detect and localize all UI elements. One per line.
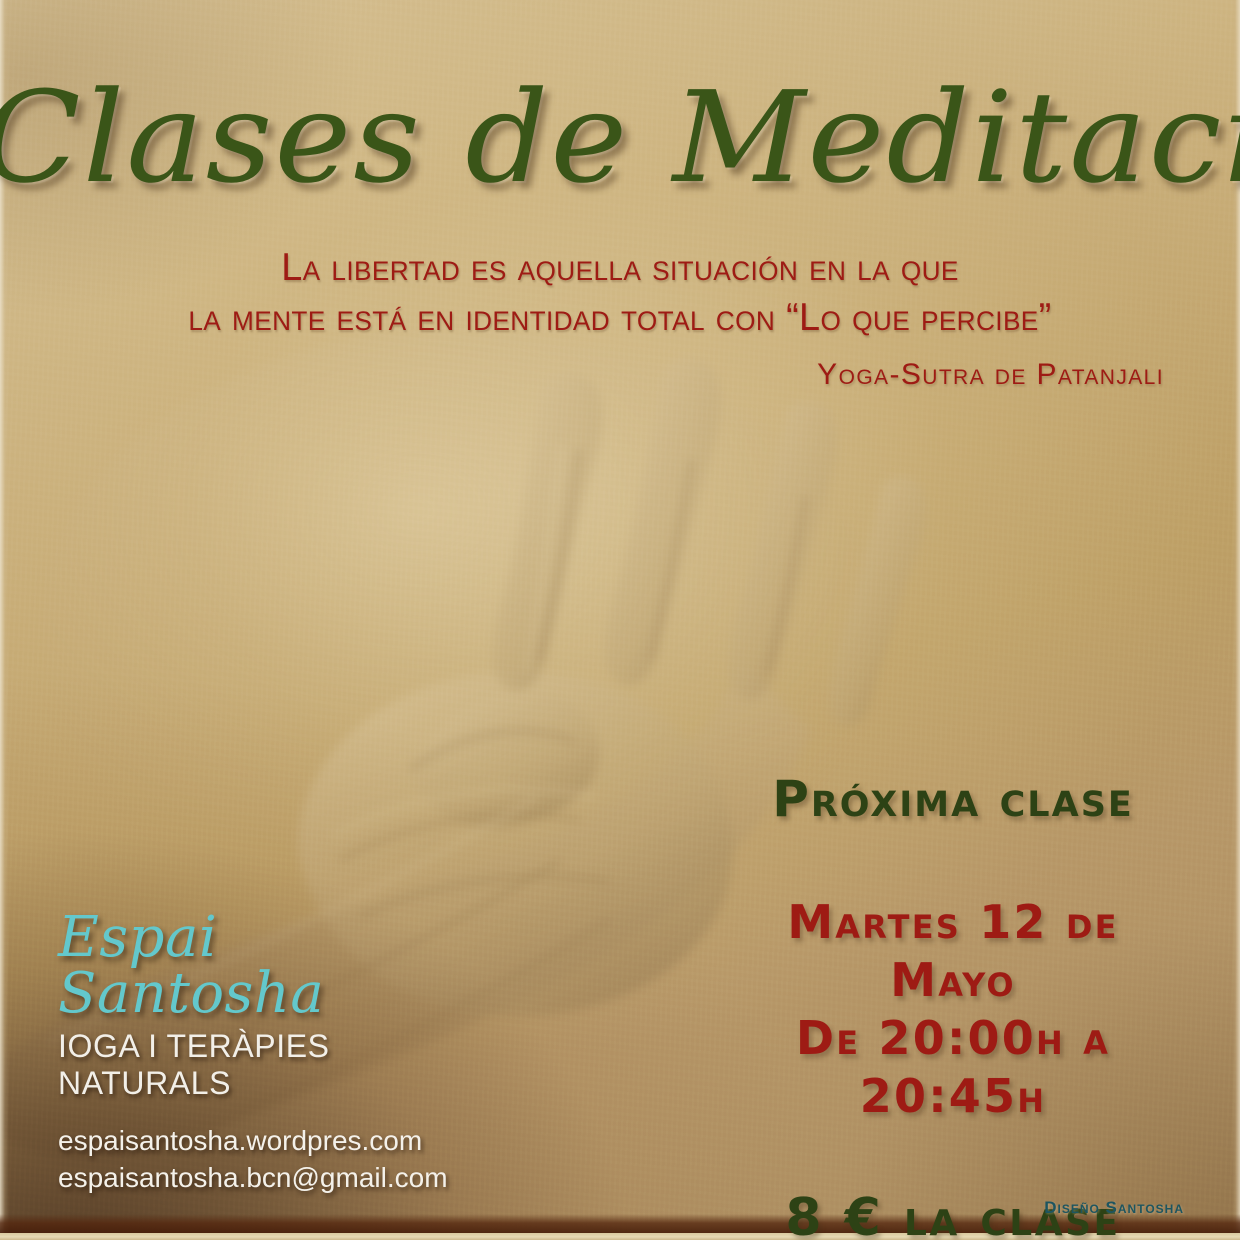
quote-line-1: La libertad es aquella situación en la q… [281,246,959,289]
quote-text: La libertad es aquella situación en la q… [19,243,1222,343]
quote-attribution: Yoga-Sutra de Patanjali [817,358,1164,392]
contact-info: espaisantosha.wordpres.com espaisantosha… [58,1122,488,1196]
page-title: Clases de Meditación [0,72,1240,204]
meditation-class-poster: Clases de Meditación La libertad es aque… [0,0,1240,1240]
studio-name: Espai Santosha [58,910,488,1022]
quote-line-2: la mente está en identidad total con “Lo… [19,293,1222,343]
website-link[interactable]: espaisantosha.wordpres.com [58,1122,488,1159]
class-details: Próxima clase Martes 12 de Mayo De 20:00… [718,770,1188,1240]
class-schedule: Martes 12 de Mayo De 20:00h a 20:45h [718,894,1188,1126]
class-time: De 20:00h a 20:45h [718,1010,1188,1126]
class-date: Martes 12 de Mayo [718,894,1188,1010]
poster-content: Clases de Meditación La libertad es aque… [0,0,1240,1240]
studio-logo-block: Espai Santosha IOGA I TERÀPIES NATURALS … [58,910,488,1196]
email-link[interactable]: espaisantosha.bcn@gmail.com [58,1159,488,1196]
studio-tagline: IOGA I TERÀPIES NATURALS [58,1028,488,1102]
next-class-heading: Próxima clase [718,770,1188,828]
design-credit: Diseño Santosha [1044,1198,1184,1218]
